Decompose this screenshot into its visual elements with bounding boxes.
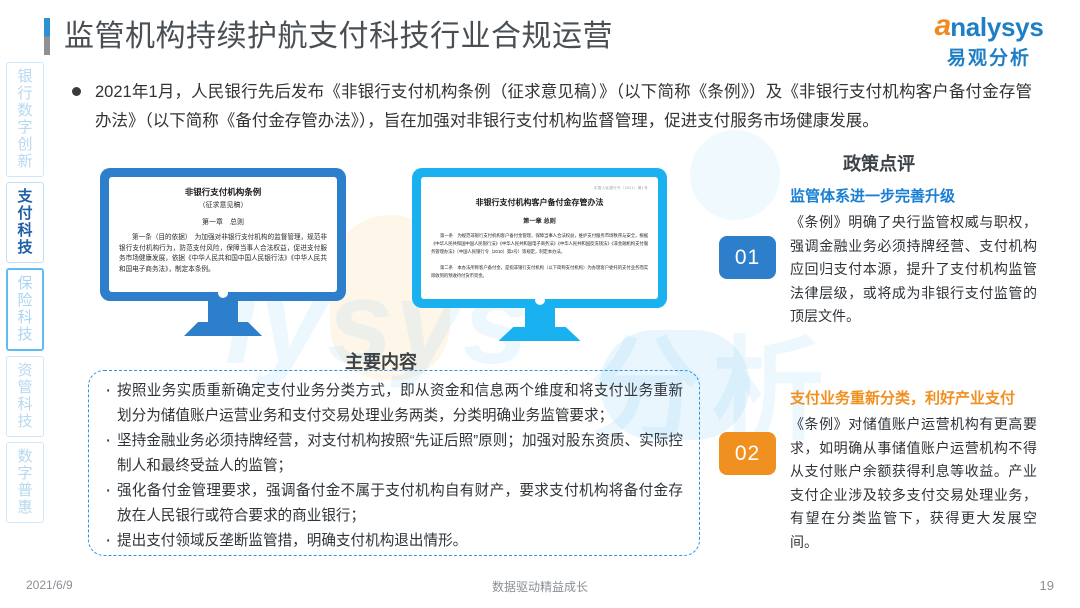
page-title: 监管机构持续护航支付科技行业合规运营 bbox=[44, 18, 613, 55]
sidebar-item-label: 保险科技 bbox=[8, 275, 42, 343]
main-content-box: 按照业务实质重新确定支付业务分类方式，即从资金和信息两个维度和将支付业务重新划分… bbox=[88, 370, 700, 556]
policy-review-block-01: 监管体系进一步完善升级 《条例》明确了央行监管权威与职权，强调金融业务必须持牌经… bbox=[790, 186, 1037, 329]
lead-text: 2021年1月，人民银行先后发布《非银行支付机构条例（征求意见稿）》（以下简称《… bbox=[95, 78, 1032, 136]
monitor-power-dot-icon bbox=[535, 295, 545, 305]
policy-review-title: 监管体系进一步完善升级 bbox=[790, 186, 1037, 208]
main-content-list: 按照业务实质重新确定支付业务分类方式，即从资金和信息两个维度和将支付业务重新划分… bbox=[103, 379, 683, 554]
monitor-bezel: 非银行支付机构条例 （征求意见稿） 第一章 总则 第一条（目的依据） 为加强对非… bbox=[100, 168, 346, 301]
slide: lysys 分析 监管机构持续护航支付科技行业合规运营 a nalysys 易观… bbox=[0, 0, 1080, 608]
sidebar-item-label: 银行数字创新 bbox=[7, 68, 43, 170]
sidebar-item-label: 数字普惠 bbox=[7, 448, 43, 516]
decor-blob-blue-small bbox=[690, 130, 780, 220]
doc-stamp: 中国人民银行令〔2021〕第1号 bbox=[431, 186, 648, 191]
policy-review-body: 《条例》明确了央行监管权威与职权，强调金融业务必须持牌经营、支付机构应回归支付本… bbox=[790, 211, 1037, 329]
status-badge-01: 01 bbox=[719, 236, 776, 279]
monitor-neck bbox=[525, 308, 555, 328]
doc-title: 非银行支付机构客户备付金存管办法 bbox=[431, 197, 648, 208]
list-item: 按照业务实质重新确定支付业务分类方式，即从资金和信息两个维度和将支付业务重新划分… bbox=[103, 379, 683, 429]
sidebar-item-asset-management-tech[interactable]: 资管科技 bbox=[6, 356, 44, 437]
monitor-regulation-draft: 非银行支付机构条例 （征求意见稿） 第一章 总则 第一条（目的依据） 为加强对非… bbox=[100, 168, 346, 301]
doc-paragraph: 第一条（目的依据） 为加强对非银行支付机构的监督管理，规范非银行支付机构行为，防… bbox=[119, 233, 327, 275]
policy-review-body: 《条例》对储值账户运营机构有更高要求，如明确从事储值账户运营机构不得从支付账户余… bbox=[790, 413, 1037, 554]
logo-name-cn: 易观分析 bbox=[926, 43, 1052, 70]
monitor-custody-measures: 中国人民银行令〔2021〕第1号 非银行支付机构客户备付金存管办法 第一章 总则… bbox=[412, 168, 667, 308]
monitor-screen: 中国人民银行令〔2021〕第1号 非银行支付机构客户备付金存管办法 第一章 总则… bbox=[421, 177, 658, 299]
footer: 2021/6/9 数据驱动精益成长 19 bbox=[0, 578, 1080, 596]
list-item: 坚持金融业务必须持牌经营，对支付机构按照“先证后照”原则；加强对股东资质、实际控… bbox=[103, 429, 683, 479]
list-item: 提出支付领域反垄断监管措，明确支付机构退出情形。 bbox=[103, 529, 683, 554]
policy-review-heading: 政策点评 bbox=[843, 150, 915, 176]
sidebar-item-label: 支付科技 bbox=[7, 188, 43, 256]
doc-chapter: 第一章 总则 bbox=[119, 217, 327, 227]
doc-subtitle: （征求意见稿） bbox=[119, 200, 327, 210]
sidebar-item-insurance-tech[interactable]: 保险科技 bbox=[6, 268, 44, 351]
lead-paragraph: 2021年1月，人民银行先后发布《非银行支付机构条例（征求意见稿）》（以下简称《… bbox=[72, 78, 1032, 136]
monitor-screen: 非银行支付机构条例 （征求意见稿） 第一章 总则 第一条（目的依据） 为加强对非… bbox=[109, 177, 337, 292]
doc-paragraph-2: 第二条 本办法所称客户备付金，是指非银行支付机构（以下简称支付机构）为办理客户委… bbox=[431, 264, 648, 280]
status-badge-02: 02 bbox=[719, 432, 776, 475]
sidebar: 银行数字创新 支付科技 保险科技 资管科技 数字普惠 bbox=[6, 62, 46, 528]
policy-review-block-02: 支付业务重新分类，利好产业支付 《条例》对储值账户运营机构有更高要求，如明确从事… bbox=[790, 388, 1037, 554]
bullet-dot-icon bbox=[72, 87, 81, 96]
doc-paragraph: 第一条 为规范非银行支付机构客户备付金管理，保障当事人合法权益，维护支付服务市场… bbox=[431, 232, 648, 256]
monitor-base bbox=[184, 322, 262, 336]
logo-name: nalysys bbox=[950, 14, 1043, 40]
footer-tagline: 数据驱动精益成长 bbox=[0, 578, 1080, 595]
monitor-neck bbox=[208, 301, 238, 323]
monitor-bezel: 中国人民银行令〔2021〕第1号 非银行支付机构客户备付金存管办法 第一章 总则… bbox=[412, 168, 667, 308]
brand-logo: a nalysys 易观分析 bbox=[926, 10, 1052, 70]
monitor-base bbox=[499, 327, 581, 341]
title-text: 监管机构持续护航支付科技行业合规运营 bbox=[64, 18, 613, 55]
doc-title: 非银行支付机构条例 bbox=[119, 186, 327, 198]
list-item: 强化备付金管理要求，强调备付金不属于支付机构自有财产，要求支付机构将备付金存放在… bbox=[103, 479, 683, 529]
logo-mark-icon: a bbox=[935, 11, 951, 41]
sidebar-item-payment-tech[interactable]: 支付科技 bbox=[6, 182, 44, 263]
sidebar-item-bank-digital-innovation[interactable]: 银行数字创新 bbox=[6, 62, 44, 177]
sidebar-item-label: 资管科技 bbox=[7, 362, 43, 430]
sidebar-item-digital-inclusive-finance[interactable]: 数字普惠 bbox=[6, 442, 44, 523]
monitor-power-dot-icon bbox=[218, 288, 228, 298]
footer-page-number: 19 bbox=[1040, 578, 1054, 593]
title-accent-bar bbox=[44, 18, 50, 55]
doc-chapter: 第一章 总则 bbox=[431, 216, 648, 225]
policy-review-title: 支付业务重新分类，利好产业支付 bbox=[790, 388, 1037, 410]
